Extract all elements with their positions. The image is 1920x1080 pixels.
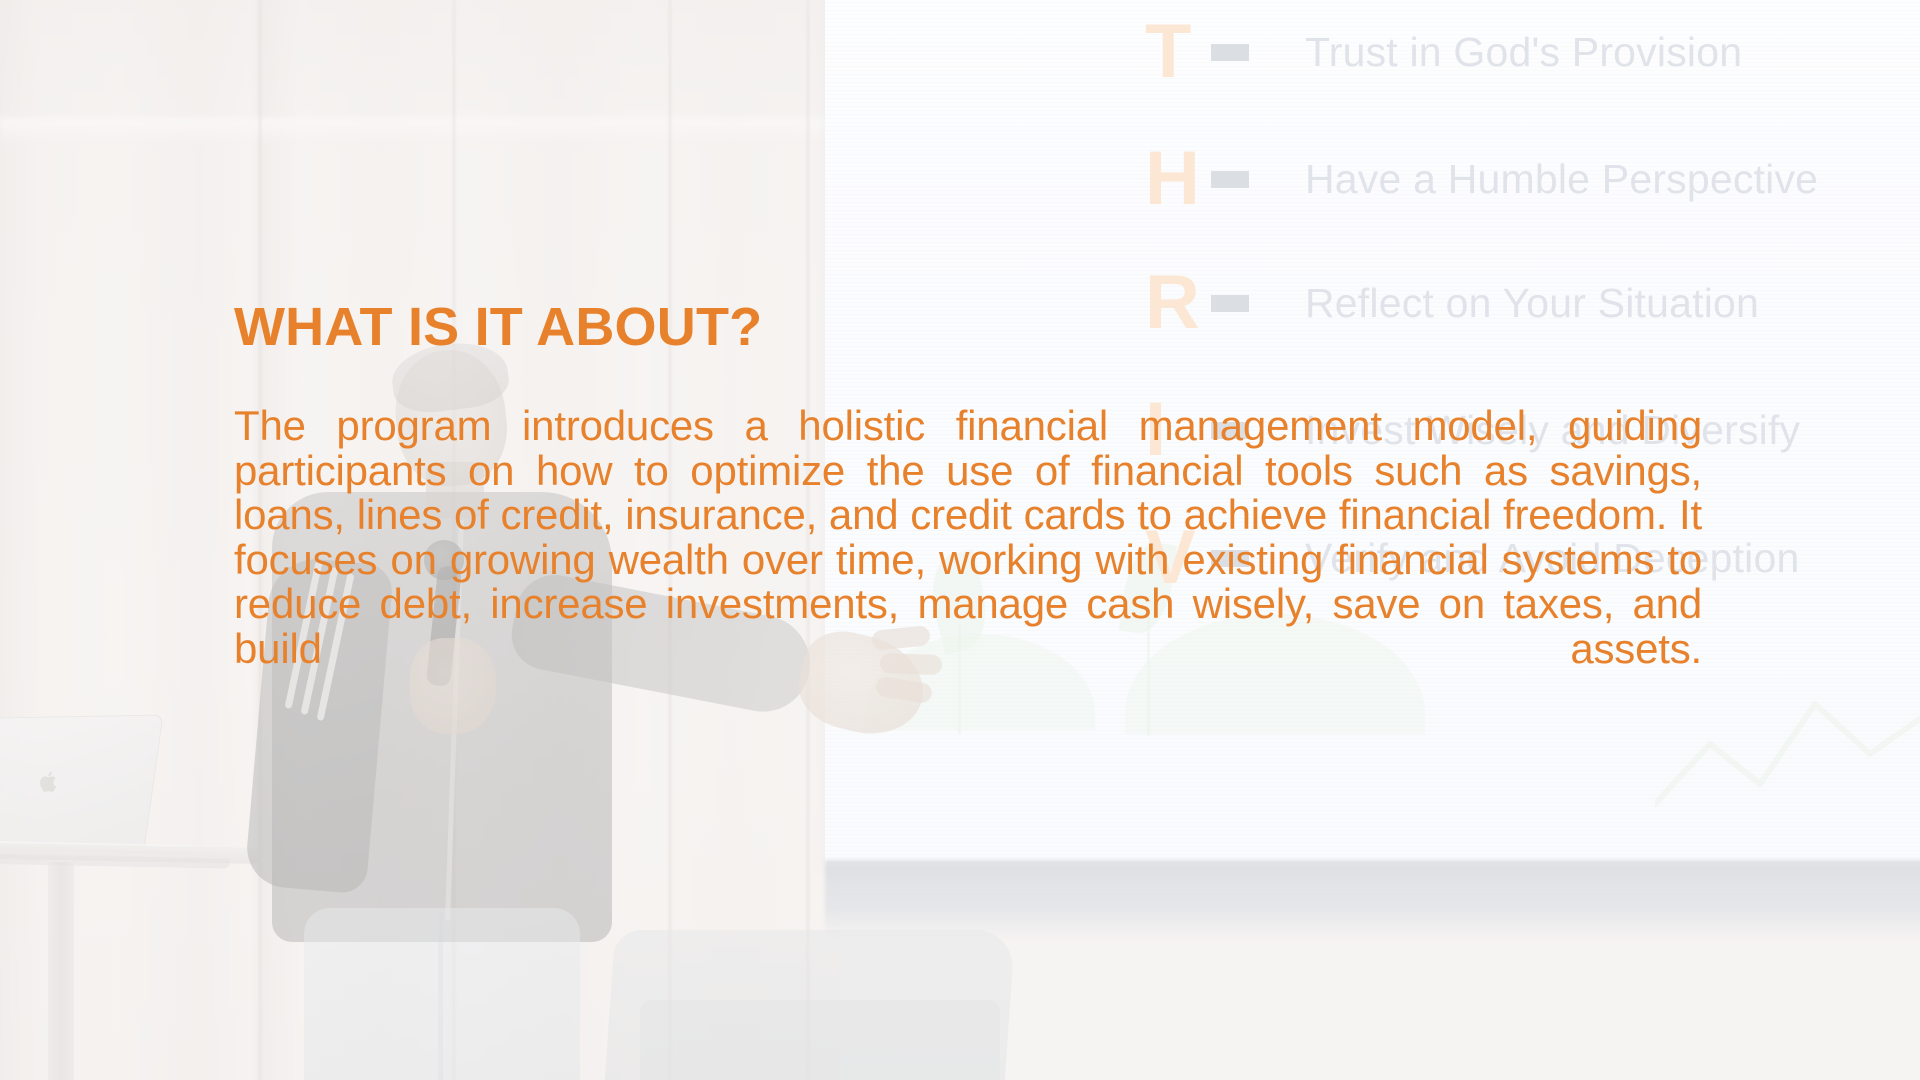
slide-stage: T Trust in God's Provision H Have a Humb… bbox=[0, 0, 1920, 1080]
text-overlay: WHAT IS IT ABOUT? The program introduces… bbox=[0, 0, 1920, 1080]
page-title: WHAT IS IT ABOUT? bbox=[234, 300, 762, 354]
body-paragraph: The program introduces a holistic financ… bbox=[234, 404, 1702, 716]
